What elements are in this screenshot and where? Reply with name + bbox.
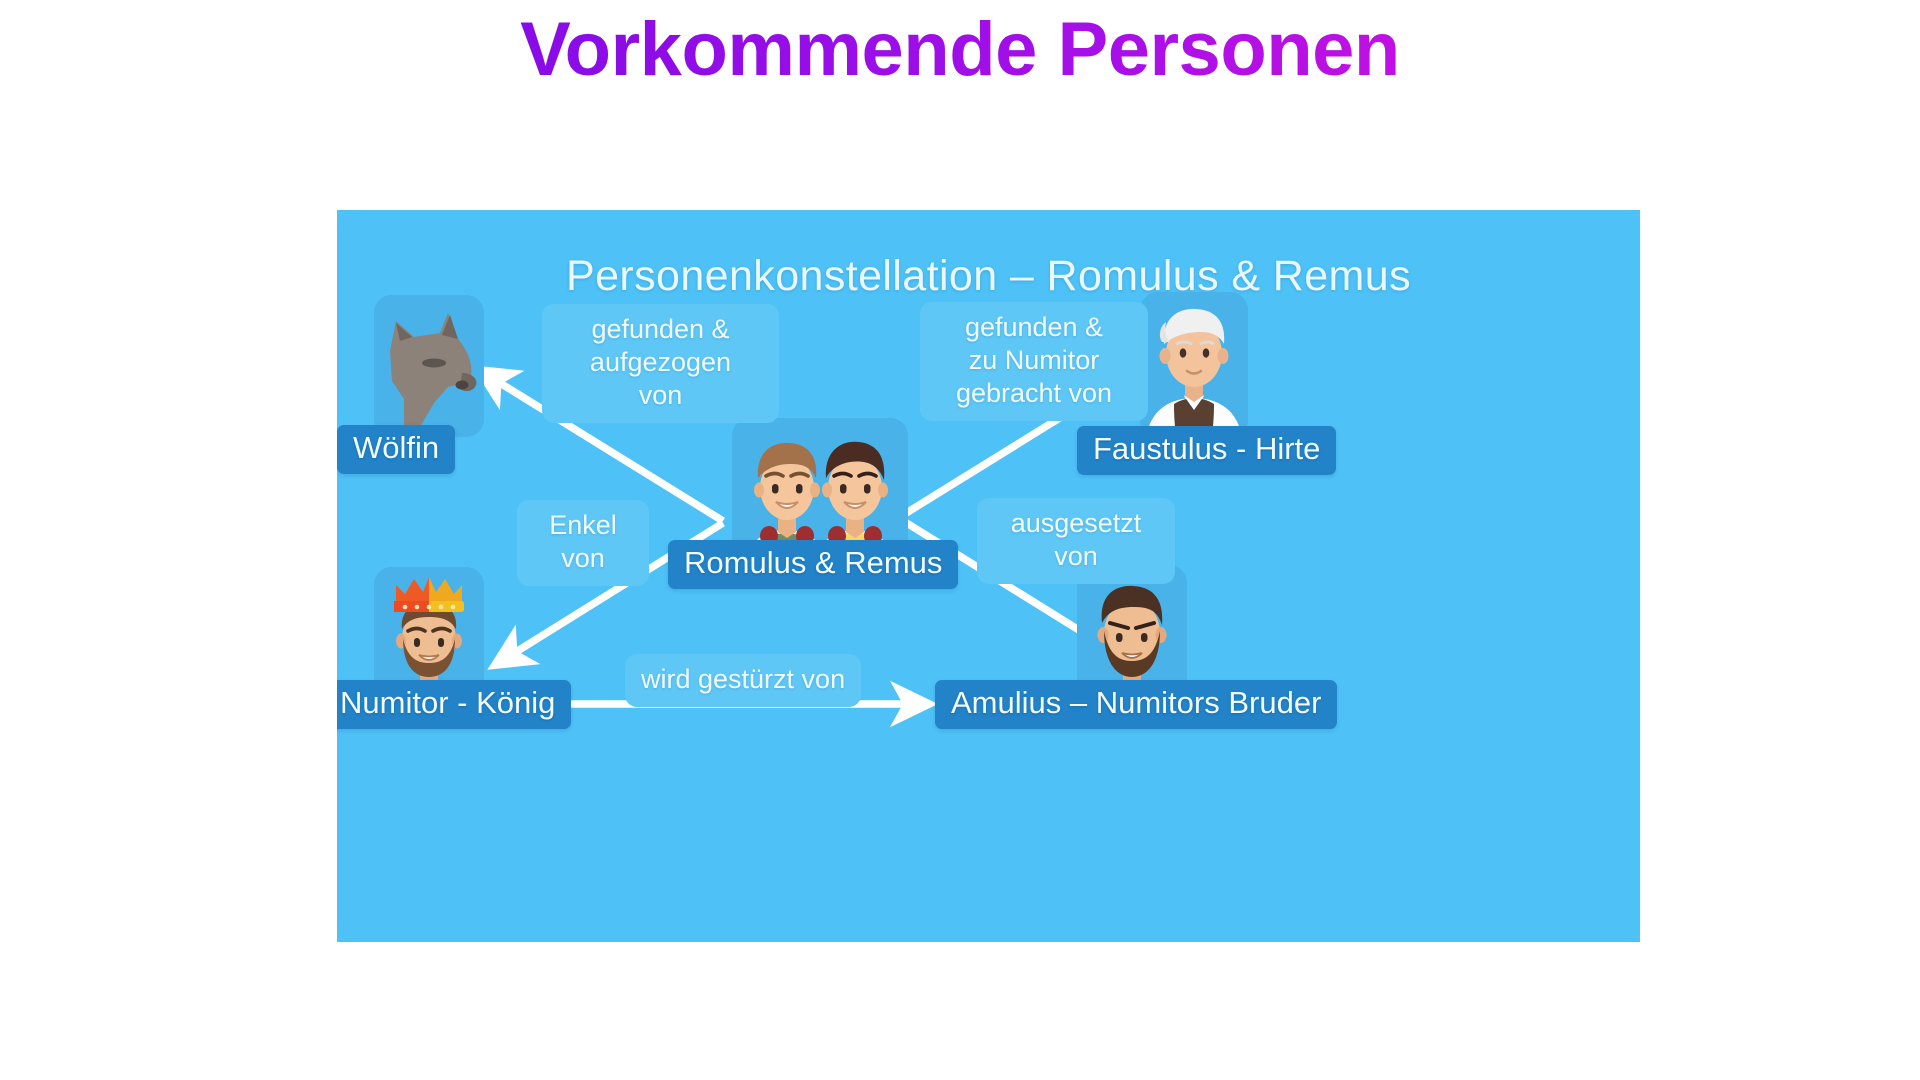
wolf-avatar-icon [374,295,484,437]
old-shepherd-avatar-icon [1140,292,1248,438]
page-title: Vorkommende Personen [0,6,1920,93]
node-label-amulius: Amulius – Numitors Bruder [935,680,1337,729]
node-label-romulus-remus: Romulus & Remus [668,540,958,589]
edge-label-twins-to-woelfin: gefunden & aufgezogen von [542,304,779,423]
node-label-faustulus: Faustulus - Hirte [1077,426,1336,475]
edge-label-twins-to-amulius: ausgesetzt von [977,498,1175,584]
edge-label-twins-to-numitor: Enkel von [517,500,649,586]
edge-label-numitor-to-amulius: wird gestürzt von [625,654,861,707]
personenkonstellation-diagram: Personenkonstellation – Romulus & Remus [337,210,1640,942]
node-label-woelfin: Wölfin [337,425,455,474]
edge-label-twins-to-faustulus: gefunden & zu Numitor gebracht von [920,302,1148,421]
node-label-numitor: Numitor - König [337,680,571,729]
